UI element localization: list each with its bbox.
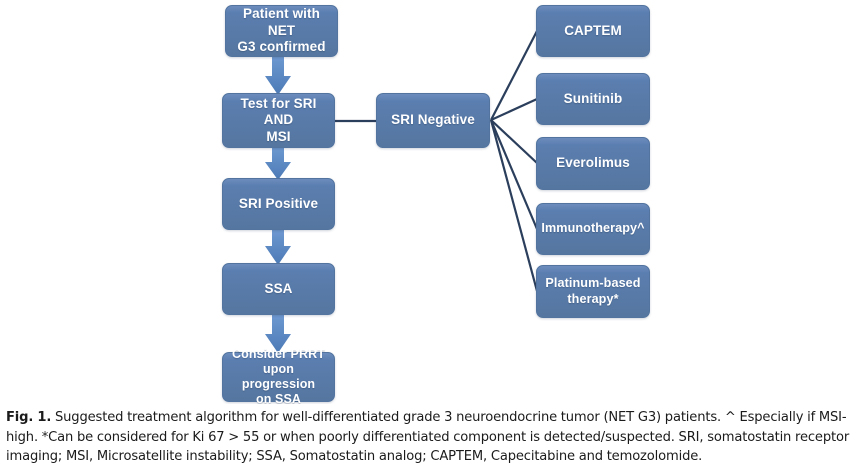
figure-caption-text: Fig. 1. Suggested treatment algorithm fo… bbox=[6, 408, 862, 467]
node-immunotherapy[interactable]: Immunotherapy^ bbox=[536, 203, 650, 255]
node-patient-with-net-g3-confirmed[interactable]: Patient with NET G3 confirmed bbox=[225, 5, 338, 57]
arrow-patient-to-test bbox=[265, 55, 291, 95]
node-everolimus[interactable]: Everolimus bbox=[536, 137, 650, 190]
connector-layer bbox=[0, 0, 868, 404]
figure-label: Fig. 1. bbox=[6, 410, 51, 425]
arrow-sri-positive-to-ssa bbox=[265, 228, 291, 265]
figure-caption-body: Suggested treatment algorithm for well-d… bbox=[6, 410, 849, 464]
node-sri-positive[interactable]: SRI Positive bbox=[222, 178, 335, 230]
link-srineg-platinum bbox=[491, 120, 537, 291]
link-srineg-sunitinib bbox=[491, 99, 537, 120]
node-platinum-based-therapy[interactable]: Platinum-based therapy* bbox=[536, 265, 650, 318]
link-srineg-immunotherapy bbox=[491, 120, 537, 229]
figure-canvas: Patient with NET G3 confirmed Test for S… bbox=[0, 0, 868, 404]
link-srineg-captem bbox=[491, 31, 537, 120]
figure-caption: Fig. 1. Suggested treatment algorithm fo… bbox=[0, 404, 868, 476]
link-srineg-everolimus bbox=[491, 120, 537, 163]
node-test-for-sri-and-msi[interactable]: Test for SRI AND MSI bbox=[222, 93, 335, 148]
node-consider-prrt[interactable]: Consider PRRT upon progression on SSA bbox=[222, 352, 335, 402]
node-captem[interactable]: CAPTEM bbox=[536, 5, 650, 57]
arrow-test-to-sri-positive bbox=[265, 146, 291, 180]
node-ssa[interactable]: SSA bbox=[222, 263, 335, 315]
node-sri-negative[interactable]: SRI Negative bbox=[376, 93, 490, 148]
node-sunitinib[interactable]: Sunitinib bbox=[536, 73, 650, 125]
